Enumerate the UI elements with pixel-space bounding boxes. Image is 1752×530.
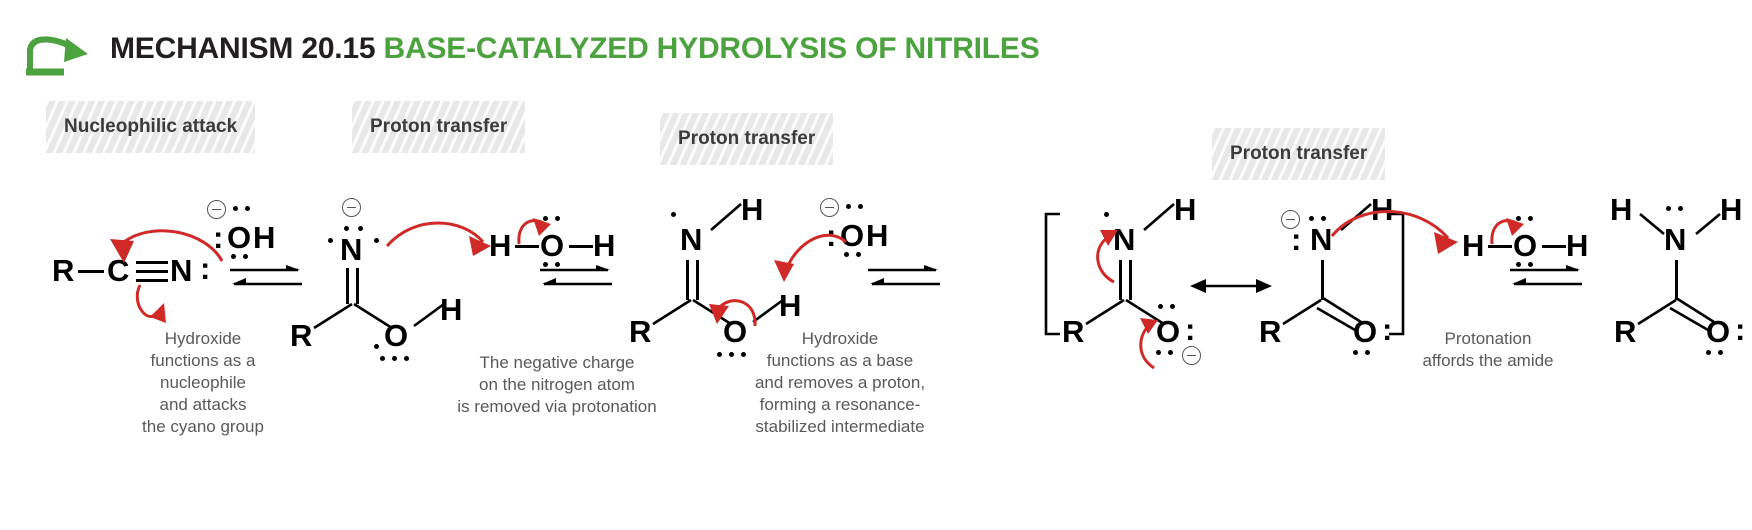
curved-arrow-pi-to-nitrogen bbox=[1084, 224, 1130, 286]
atom-O: O bbox=[227, 222, 251, 253]
lone-pair-colon-O: : bbox=[1185, 314, 1195, 345]
caption-step-3: Hydroxide functions as a base and remove… bbox=[710, 328, 970, 438]
lone-pair-dot bbox=[1666, 206, 1671, 211]
bond-R-C bbox=[1281, 298, 1325, 326]
curved-mechanism-arrow-icon bbox=[22, 32, 100, 76]
step-label-text: Proton transfer bbox=[370, 116, 507, 138]
bond-N-C bbox=[1675, 260, 1678, 300]
lone-pair-dot bbox=[358, 226, 363, 231]
lone-pair-dot bbox=[1321, 216, 1326, 221]
atom-N: N bbox=[340, 234, 362, 265]
curved-arrow-nitrogen-to-water-2 bbox=[1330, 204, 1466, 260]
negative-charge-badge bbox=[1182, 346, 1201, 365]
atom-H-left: H bbox=[489, 230, 511, 261]
curved-arrow-oxygen-to-carbon bbox=[1132, 310, 1172, 372]
title-mechanism-name: BASE-CATALYZED HYDROLYSIS OF NITRILES bbox=[384, 32, 1040, 65]
lone-pair-dot bbox=[1104, 212, 1109, 217]
lone-pair-dot bbox=[328, 238, 333, 243]
bond-R-C bbox=[312, 302, 356, 330]
negative-charge-badge bbox=[820, 198, 839, 217]
atom-N: N bbox=[680, 224, 702, 255]
bond-double-line-2 bbox=[356, 268, 359, 304]
atom-O: O bbox=[384, 320, 408, 351]
lone-pair-colon-O: : bbox=[1735, 314, 1745, 345]
lone-pair-dot bbox=[1678, 206, 1683, 211]
curved-arrow-nucleophile-attack bbox=[100, 215, 230, 277]
step-label-text: Proton transfer bbox=[1230, 143, 1367, 165]
step-label-text: Nucleophilic attack bbox=[64, 116, 237, 138]
caption-step-2: The negative charge on the nitrogen atom… bbox=[432, 352, 682, 418]
lone-pair-dot bbox=[243, 254, 248, 259]
resonance-bracket-left bbox=[1040, 212, 1064, 336]
resonance-arrow bbox=[1188, 275, 1274, 297]
atom-R: R bbox=[290, 320, 312, 351]
lone-pair-dot bbox=[846, 204, 851, 209]
atom-H-left: H bbox=[1462, 230, 1484, 261]
step-label-proton-transfer-1: Proton transfer bbox=[352, 101, 525, 153]
bond-R-C bbox=[651, 298, 695, 326]
title-bar: MECHANISM 20.15 BASE-CATALYZED HYDROLYSI… bbox=[0, 14, 1752, 66]
page-title: MECHANISM 20.15 BASE-CATALYZED HYDROLYSI… bbox=[110, 32, 1040, 66]
lone-pair-dot bbox=[231, 254, 236, 259]
lone-pair-dot bbox=[671, 212, 676, 217]
lone-pair-dot bbox=[374, 344, 379, 349]
atom-N: N bbox=[1664, 224, 1686, 255]
bond-N-C-single bbox=[1321, 260, 1324, 300]
lone-pair-dot bbox=[1365, 350, 1370, 355]
atom-O: O bbox=[1353, 316, 1377, 347]
title-mechanism-number: MECHANISM 20.15 bbox=[110, 32, 384, 65]
atom-R: R bbox=[629, 316, 651, 347]
atom-H-right: H bbox=[593, 230, 615, 261]
curved-arrow-hydroxide-removes-proton bbox=[772, 230, 852, 290]
step-label-text: Proton transfer bbox=[678, 128, 815, 150]
step-label-proton-transfer-3: Proton transfer bbox=[1212, 128, 1385, 180]
lone-pair-dot bbox=[1170, 304, 1175, 309]
atom-R: R bbox=[1259, 316, 1281, 347]
curved-arrow-nitrogen-to-water bbox=[385, 212, 497, 260]
lone-pair-dot bbox=[1353, 350, 1358, 355]
lone-pair-dot bbox=[856, 252, 861, 257]
atom-H-right: H bbox=[1720, 194, 1742, 225]
atom-R: R bbox=[52, 255, 74, 286]
atom-H-on-N: H bbox=[741, 194, 763, 225]
lone-pair-colon-N: : bbox=[1291, 224, 1301, 255]
equilibrium-arrows-3 bbox=[866, 262, 942, 294]
lone-pair-dot bbox=[233, 206, 238, 211]
step-label-proton-transfer-2: Proton transfer bbox=[660, 113, 833, 165]
bond-O-H bbox=[569, 245, 593, 248]
atom-H-on-O: H bbox=[779, 290, 801, 321]
curved-arrow-water-bond-to-oxygen bbox=[513, 212, 557, 248]
bond-R-C bbox=[1084, 298, 1128, 326]
bond-O-H bbox=[1542, 245, 1566, 248]
atom-O: O bbox=[1706, 316, 1730, 347]
lone-pair-dot bbox=[1718, 350, 1723, 355]
caption-step-1: Hydroxide functions as a nucleophile and… bbox=[118, 328, 288, 438]
atom-H-on-N: H bbox=[1174, 194, 1196, 225]
lone-pair-dot bbox=[1706, 350, 1711, 355]
lone-pair-dot bbox=[1158, 304, 1163, 309]
bond-double-line-2 bbox=[696, 260, 699, 300]
atom-H-right: H bbox=[1566, 230, 1588, 261]
lone-pair-dot bbox=[404, 356, 409, 361]
bond-triple-line-3 bbox=[136, 279, 168, 282]
lone-pair-dot bbox=[245, 206, 250, 211]
caption-step-4: Protonation affords the amide bbox=[1388, 328, 1588, 372]
bond-double-line-1 bbox=[346, 268, 349, 304]
lone-pair-dot bbox=[380, 356, 385, 361]
atom-H: H bbox=[866, 220, 888, 251]
equilibrium-arrows-2 bbox=[538, 262, 614, 294]
negative-charge-badge bbox=[342, 198, 361, 217]
bond-double-line-1 bbox=[686, 260, 689, 300]
equilibrium-arrows-4 bbox=[1508, 262, 1584, 294]
lone-pair-dot bbox=[344, 226, 349, 231]
equilibrium-arrows-1 bbox=[228, 262, 304, 294]
curved-arrow-water-bond-to-oxygen bbox=[1486, 212, 1530, 248]
lone-pair-dot bbox=[392, 356, 397, 361]
atom-H: H bbox=[440, 294, 462, 325]
atom-H-left: H bbox=[1610, 194, 1632, 225]
atom-R: R bbox=[1614, 316, 1636, 347]
lone-pair-dot bbox=[374, 238, 379, 243]
atom-H: H bbox=[253, 222, 275, 253]
atom-R: R bbox=[1062, 316, 1084, 347]
step-label-nucleophilic-attack: Nucleophilic attack bbox=[46, 101, 255, 153]
lone-pair-dot bbox=[858, 204, 863, 209]
lone-pair-dot bbox=[1309, 216, 1314, 221]
